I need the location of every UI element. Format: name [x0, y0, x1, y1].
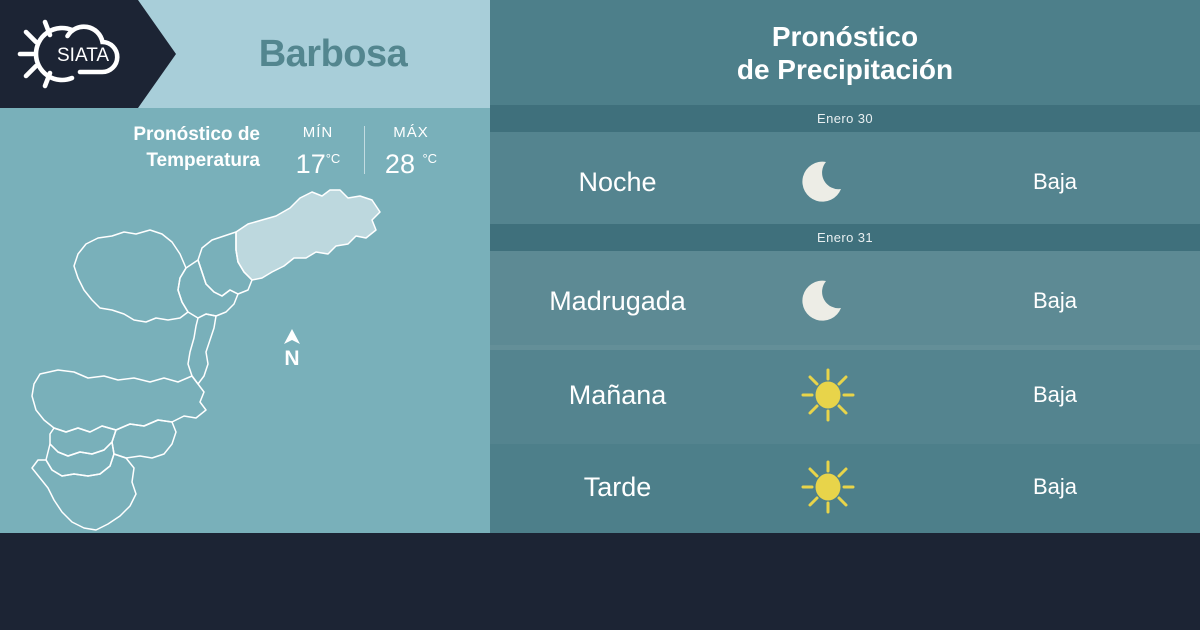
footer: @siatamedellin www.siata.gov.co Con el a… — [0, 533, 1200, 630]
north-arrow-icon — [280, 329, 304, 345]
temperature-max: MÁX 28 °C — [371, 122, 451, 179]
minmax-divider — [364, 126, 365, 174]
sun-cloud-icon: SIATA — [14, 14, 144, 94]
siata-logo-text: SIATA — [57, 45, 109, 66]
forecast-probability: Baja — [910, 382, 1200, 408]
weather-forecast-card: SIATA Barbosa Pronóstico de Temperatura … — [0, 0, 1200, 630]
date-band-second: Enero 31 — [490, 224, 1200, 251]
temperature-min-label: MÍN — [278, 122, 358, 144]
temperature-block: Pronóstico de Temperatura MÍN 17°C MÁX 2… — [60, 122, 460, 186]
moon-icon — [745, 274, 910, 328]
map-region-itagui — [50, 426, 116, 456]
map-region-caldas — [32, 454, 136, 530]
precipitation-title-line2: de Precipitación — [737, 53, 953, 86]
map-svg — [0, 186, 490, 533]
compass-rose: N — [277, 329, 307, 368]
left-panel: SIATA Barbosa Pronóstico de Temperatura … — [0, 0, 490, 533]
city-title: Barbosa — [176, 0, 490, 108]
forecast-row-manana[interactable]: Mañana Baja — [490, 345, 1200, 444]
left-header: SIATA Barbosa — [0, 0, 490, 108]
moon-icon — [745, 155, 910, 209]
temperature-max-value: 28 °C — [371, 144, 451, 179]
forecast-probability: Baja — [910, 288, 1200, 314]
forecast-row-madrugada[interactable]: Madrugada Baja — [490, 251, 1200, 350]
map-region-barbosa — [236, 190, 380, 280]
compass-label: N — [277, 350, 307, 368]
aburra-valley-map: N — [0, 186, 490, 533]
temperature-max-unit: °C — [422, 151, 437, 166]
temperature-min-unit: °C — [326, 151, 341, 166]
forecast-period-label: Madrugada — [490, 286, 745, 316]
precipitation-title-line1: Pronóstico — [772, 20, 918, 53]
temperature-title-line1: Pronóstico de — [60, 122, 260, 148]
precipitation-title: Pronóstico de Precipitación — [490, 0, 1200, 105]
temperature-max-number: 28 — [385, 149, 415, 179]
map-region-envigado — [112, 420, 176, 458]
forecast-period-label: Noche — [490, 167, 745, 197]
temperature-min: MÍN 17°C — [278, 122, 358, 179]
map-region-medellin-north — [188, 314, 216, 384]
temperature-min-number: 17 — [296, 149, 326, 179]
forecast-period-label: Mañana — [490, 380, 745, 410]
map-region-bello — [74, 230, 188, 322]
temperature-title-line2: Temperatura — [60, 148, 260, 174]
temperature-min-value: 17°C — [278, 144, 358, 179]
temperature-max-label: MÁX — [371, 122, 451, 144]
forecast-row-tarde[interactable]: Tarde Baja — [490, 440, 1200, 533]
temperature-title: Pronóstico de Temperatura — [60, 122, 260, 174]
sun-icon — [745, 459, 910, 515]
temperature-minmax: MÍN 17°C MÁX 28 °C — [278, 122, 451, 179]
map-region-medellin — [32, 370, 206, 432]
forecast-probability: Baja — [910, 169, 1200, 195]
forecast-row-noche[interactable]: Noche Baja — [490, 132, 1200, 231]
precipitation-panel: Pronóstico de Precipitación Enero 30 Noc… — [490, 0, 1200, 533]
siata-logo-badge[interactable]: SIATA — [0, 0, 176, 108]
forecast-period-label: Tarde — [490, 472, 745, 502]
forecast-probability: Baja — [910, 474, 1200, 500]
date-band-first: Enero 30 — [490, 105, 1200, 132]
sun-icon — [745, 367, 910, 423]
